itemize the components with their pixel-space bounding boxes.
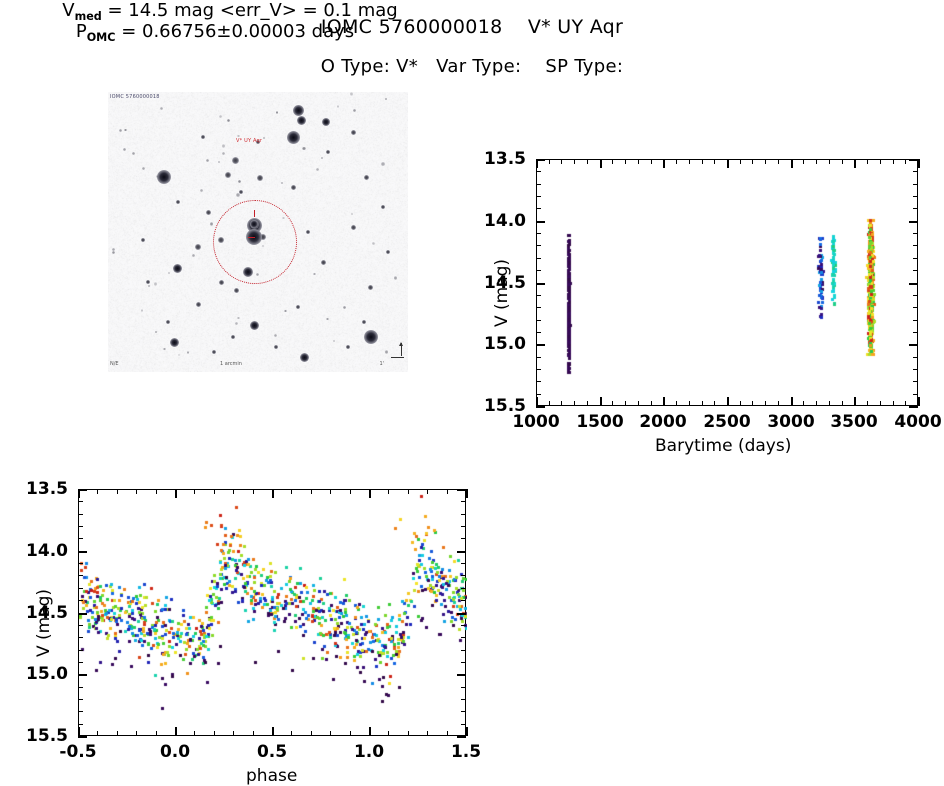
axis-tick <box>536 295 541 296</box>
axis-tick <box>638 401 639 406</box>
axis-tick <box>97 731 98 736</box>
star-faint <box>232 157 239 164</box>
star-noise <box>302 147 305 150</box>
axis-tick <box>291 731 292 736</box>
xtick-label: 0.0 <box>160 742 190 762</box>
finder-scalebar-label: 1' <box>379 361 384 367</box>
axis-tick <box>913 357 918 358</box>
axis-tick <box>78 662 83 663</box>
star-noise <box>281 182 283 184</box>
star-noise <box>235 322 238 325</box>
axis-tick <box>136 489 137 494</box>
axis-tick <box>253 731 254 736</box>
axis-tick <box>536 184 541 185</box>
axis-tick <box>913 394 918 395</box>
star-noise <box>132 152 135 155</box>
star-faint <box>166 320 170 324</box>
axis-tick <box>350 731 351 736</box>
compass-east-icon <box>391 357 404 358</box>
xtick-label: 2000 <box>639 412 686 432</box>
ytick-label: 14.0 <box>484 211 526 231</box>
star-noise <box>192 254 195 257</box>
finder-scale-label: 1 arcmin <box>220 361 242 367</box>
axis-tick <box>816 401 817 406</box>
axis-tick <box>536 159 545 161</box>
axis-tick <box>536 369 541 370</box>
axis-tick <box>536 221 545 223</box>
axis-tick <box>536 381 541 382</box>
star-faint <box>296 305 300 309</box>
phase-data-canvas <box>79 490 467 737</box>
star-faint <box>351 225 356 230</box>
axis-tick <box>803 159 804 164</box>
axis-tick <box>893 159 894 164</box>
axis-tick <box>388 731 389 736</box>
ytick-label: 15.0 <box>26 664 68 684</box>
axis-tick <box>233 731 234 736</box>
axis-tick <box>461 538 466 539</box>
axis-tick <box>727 159 729 168</box>
star-faint <box>219 280 224 285</box>
period-subscript: OMC <box>87 31 116 44</box>
axis-tick <box>676 159 677 164</box>
axis-tick <box>689 401 690 406</box>
axis-tick <box>117 489 118 494</box>
ytick-label: 15.0 <box>484 334 526 354</box>
axis-tick <box>330 731 331 736</box>
axis-tick <box>803 401 804 406</box>
axis-tick <box>536 332 541 333</box>
page-title: IOMC 5760000018 V* UY Aqr <box>0 16 944 38</box>
axis-tick <box>765 401 766 406</box>
star-faint <box>274 345 278 349</box>
axis-tick <box>536 357 541 358</box>
axis-tick <box>549 159 550 164</box>
phase-yaxis-label: V (mag) <box>34 589 54 657</box>
axis-tick <box>78 588 83 589</box>
star-noise <box>316 168 319 171</box>
finder-orientation-label: N/E <box>110 361 119 367</box>
star-bright <box>300 353 309 362</box>
axis-tick <box>78 687 83 688</box>
axis-tick <box>78 724 83 725</box>
star-noise <box>236 193 240 197</box>
star-faint <box>364 175 369 180</box>
axis-tick <box>136 731 137 736</box>
axis-tick <box>842 401 843 406</box>
axis-tick <box>253 489 254 494</box>
axis-tick <box>78 600 83 601</box>
star-noise <box>141 309 144 312</box>
axis-tick <box>78 526 83 527</box>
axis-tick <box>587 159 588 164</box>
axis-tick <box>78 489 87 491</box>
axis-tick <box>536 394 541 395</box>
axis-tick <box>867 401 868 406</box>
star-faint <box>141 238 145 242</box>
ytick-label: 14.0 <box>26 541 68 561</box>
axis-tick <box>78 514 83 515</box>
xtick-label: 0.5 <box>257 742 287 762</box>
star-faint <box>257 175 263 181</box>
object-type-line: O Type: V* Var Type: SP Type: <box>0 56 944 77</box>
axis-tick <box>778 401 779 406</box>
star-bright <box>170 338 179 347</box>
axis-tick <box>549 401 550 406</box>
axis-tick <box>461 699 466 700</box>
axis-tick <box>408 731 409 736</box>
axis-tick <box>913 369 918 370</box>
star-noise <box>163 348 165 350</box>
axis-tick <box>880 159 881 164</box>
star-faint <box>386 250 390 254</box>
star-faint <box>201 135 205 139</box>
axis-tick <box>78 637 83 638</box>
axis-tick <box>612 401 613 406</box>
axis-tick <box>600 159 602 168</box>
axis-tick <box>117 731 118 736</box>
axis-tick <box>78 650 83 651</box>
axis-tick <box>536 196 541 197</box>
axis-tick <box>702 401 703 406</box>
star-noise <box>385 350 388 353</box>
axis-tick <box>291 489 292 494</box>
xtick-label: 4000 <box>894 412 941 432</box>
compass-north-icon <box>401 343 402 356</box>
axis-tick <box>651 159 652 164</box>
axis-tick <box>78 563 83 564</box>
finding-chart: V* UY Aqr IOMC 5760000018 N/E 1 arcmin 1… <box>108 92 408 372</box>
axis-tick <box>625 401 626 406</box>
star-noise <box>350 92 353 95</box>
axis-tick <box>574 401 575 406</box>
axis-tick <box>156 489 157 494</box>
axis-tick <box>913 208 918 209</box>
axis-tick <box>913 332 918 333</box>
star-faint <box>326 150 330 154</box>
star-noise <box>353 109 356 112</box>
axis-tick <box>918 159 920 168</box>
axis-tick <box>408 489 409 494</box>
axis-tick <box>587 401 588 406</box>
axis-tick <box>457 551 466 553</box>
target-crosshair-v <box>254 210 255 217</box>
axis-tick <box>461 526 466 527</box>
star-bright <box>297 116 306 125</box>
axis-tick <box>905 401 906 406</box>
axis-tick <box>625 159 626 164</box>
axis-tick <box>175 489 177 498</box>
ytick-label: 15.5 <box>484 396 526 416</box>
star-noise <box>222 152 225 155</box>
xtick-label: 3500 <box>830 412 877 432</box>
star-noise <box>372 242 375 245</box>
star-noise <box>142 167 145 170</box>
axis-tick <box>457 674 466 676</box>
axis-tick <box>842 159 843 164</box>
axis-tick <box>816 159 817 164</box>
axis-tick <box>612 159 613 164</box>
axis-tick <box>311 489 312 494</box>
axis-tick <box>536 171 541 172</box>
axis-tick <box>461 711 466 712</box>
axis-tick <box>369 489 371 498</box>
axis-tick <box>893 401 894 406</box>
star-bright <box>173 264 182 273</box>
axis-tick <box>829 159 830 164</box>
star-faint <box>196 302 201 307</box>
vmed-subscript: med <box>75 10 102 23</box>
star-faint <box>146 280 150 284</box>
star-bright <box>157 170 171 184</box>
phase-xaxis-label: phase <box>246 766 297 786</box>
star-faint <box>176 200 180 204</box>
axis-tick <box>194 731 195 736</box>
axis-tick <box>829 401 830 406</box>
axis-tick <box>78 711 83 712</box>
axis-tick <box>689 159 690 164</box>
axis-tick <box>78 699 83 700</box>
axis-tick <box>536 245 541 246</box>
axis-tick <box>78 727 80 736</box>
ytick-label: 13.5 <box>484 149 526 169</box>
star-faint <box>231 335 235 339</box>
axis-tick <box>651 401 652 406</box>
star-noise <box>200 189 203 192</box>
axis-tick <box>740 159 741 164</box>
axis-tick <box>461 650 466 651</box>
axis-tick <box>905 159 906 164</box>
axis-tick <box>909 159 918 161</box>
ytick-label: 13.5 <box>26 479 68 499</box>
barytime-xaxis-label: Barytime (days) <box>655 436 791 456</box>
barytime-data-canvas <box>537 160 919 407</box>
axis-tick <box>447 489 448 494</box>
star-faint <box>381 205 385 209</box>
axis-tick <box>461 588 466 589</box>
axis-tick <box>78 551 87 553</box>
target-marker-circle <box>213 200 297 284</box>
axis-tick <box>913 258 918 259</box>
axis-tick <box>918 397 920 406</box>
star-bright <box>364 330 378 344</box>
axis-tick <box>714 159 715 164</box>
finder-target-label: V* UY Aqr <box>236 138 262 144</box>
axis-tick <box>536 233 541 234</box>
star-faint <box>234 288 239 293</box>
axis-tick <box>913 320 918 321</box>
axis-tick <box>600 397 602 406</box>
axis-tick <box>765 159 766 164</box>
axis-tick <box>461 637 466 638</box>
axis-tick <box>913 233 918 234</box>
ytick-label: 15.5 <box>26 726 68 746</box>
xtick-label: 1.0 <box>354 742 384 762</box>
xtick-label: 2500 <box>703 412 750 432</box>
star-noise <box>112 251 115 254</box>
axis-tick <box>466 727 468 736</box>
axis-tick <box>461 575 466 576</box>
star-faint <box>291 185 296 190</box>
axis-tick <box>369 727 371 736</box>
axis-tick <box>714 401 715 406</box>
axis-tick <box>791 159 793 168</box>
axis-tick <box>457 613 466 615</box>
axis-tick <box>854 397 856 406</box>
axis-tick <box>536 344 545 346</box>
axis-tick <box>447 731 448 736</box>
axis-tick <box>457 736 466 738</box>
axis-tick <box>427 489 428 494</box>
axis-tick <box>909 283 918 285</box>
axis-tick <box>78 538 83 539</box>
star-bright <box>250 321 259 330</box>
axis-tick <box>461 501 466 502</box>
star-noise <box>284 310 287 313</box>
axis-tick <box>78 575 83 576</box>
axis-tick <box>536 320 541 321</box>
star-faint <box>321 260 326 265</box>
axis-tick <box>778 159 779 164</box>
star-noise <box>123 148 126 151</box>
star-noise <box>124 129 126 131</box>
target-crosshair-h <box>248 237 255 238</box>
axis-tick <box>561 159 562 164</box>
star-faint <box>362 320 366 324</box>
axis-tick <box>854 159 856 168</box>
star-faint <box>206 210 211 215</box>
xtick-label: 3000 <box>767 412 814 432</box>
axis-tick <box>78 501 83 502</box>
axis-tick <box>913 171 918 172</box>
axis-tick <box>461 687 466 688</box>
axis-tick <box>97 489 98 494</box>
axis-tick <box>194 489 195 494</box>
axis-tick <box>461 563 466 564</box>
star-bright <box>293 105 304 116</box>
axis-tick <box>638 159 639 164</box>
axis-tick <box>702 159 703 164</box>
axis-tick <box>663 159 665 168</box>
barytime-yaxis-label: V (mag) <box>492 259 512 327</box>
axis-tick <box>913 270 918 271</box>
axis-tick <box>311 731 312 736</box>
axis-tick <box>156 731 157 736</box>
star-bright <box>287 131 300 144</box>
axis-tick <box>272 727 274 736</box>
axis-tick <box>461 625 466 626</box>
axis-tick <box>913 381 918 382</box>
axis-tick <box>214 731 215 736</box>
axis-tick <box>752 159 753 164</box>
star-faint <box>351 130 356 135</box>
axis-tick <box>330 489 331 494</box>
axis-tick <box>536 307 541 308</box>
star-faint <box>195 244 201 250</box>
axis-tick <box>78 625 83 626</box>
axis-tick <box>909 344 918 346</box>
axis-tick <box>461 724 466 725</box>
star-noise <box>381 162 385 166</box>
xtick-label: 1.5 <box>451 742 481 762</box>
axis-tick <box>466 489 468 498</box>
axis-tick <box>791 397 793 406</box>
axis-tick <box>561 401 562 406</box>
axis-tick <box>536 208 541 209</box>
axis-tick <box>350 489 351 494</box>
star-faint <box>368 285 373 290</box>
star-noise <box>343 306 345 308</box>
axis-tick <box>461 514 466 515</box>
axis-tick <box>909 221 918 223</box>
axis-tick <box>913 245 918 246</box>
axis-tick <box>427 731 428 736</box>
star-noise <box>160 107 163 110</box>
axis-tick <box>536 397 538 406</box>
axis-tick <box>214 489 215 494</box>
star-faint <box>212 350 216 354</box>
star-noise <box>333 340 335 342</box>
axis-tick <box>78 613 87 615</box>
axis-tick <box>752 401 753 406</box>
axis-tick <box>461 600 466 601</box>
axis-tick <box>913 184 918 185</box>
axis-tick <box>536 406 545 408</box>
axis-tick <box>457 489 466 491</box>
axis-tick <box>536 270 541 271</box>
axis-tick <box>676 401 677 406</box>
star-bright <box>322 118 330 126</box>
axis-tick <box>78 736 87 738</box>
axis-tick <box>913 196 918 197</box>
finder-id-label: IOMC 5760000018 <box>110 94 160 100</box>
star-faint <box>225 172 231 178</box>
axis-tick <box>574 159 575 164</box>
axis-tick <box>880 401 881 406</box>
axis-tick <box>388 489 389 494</box>
star-faint <box>306 230 310 234</box>
axis-tick <box>913 307 918 308</box>
star-noise <box>156 175 159 178</box>
star-faint <box>346 345 350 349</box>
axis-tick <box>175 727 177 736</box>
axis-tick <box>536 258 541 259</box>
axis-tick <box>727 397 729 406</box>
xtick-label: 1500 <box>576 412 623 432</box>
axis-tick <box>740 401 741 406</box>
axis-tick <box>913 295 918 296</box>
axis-tick <box>536 283 545 285</box>
axis-tick <box>909 406 918 408</box>
axis-tick <box>78 674 87 676</box>
axis-tick <box>867 159 868 164</box>
axis-tick <box>461 662 466 663</box>
star-noise <box>154 282 157 285</box>
axis-tick <box>663 397 665 406</box>
axis-tick <box>233 489 234 494</box>
axis-tick <box>272 489 274 498</box>
